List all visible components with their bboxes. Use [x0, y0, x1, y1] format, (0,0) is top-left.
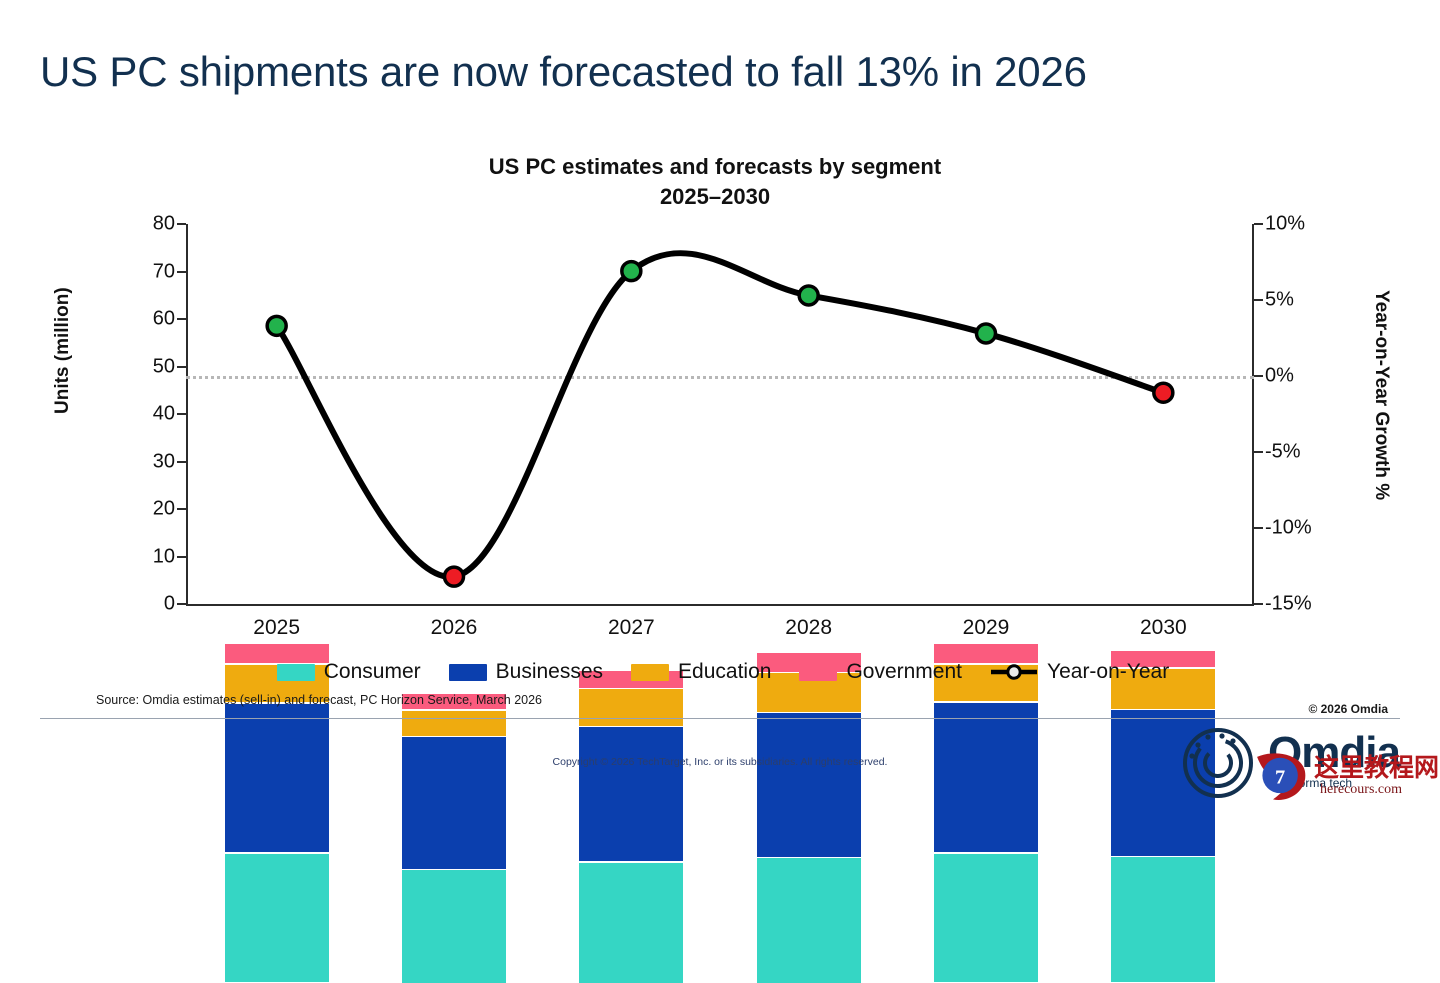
year-on-year-data-point[interactable]	[267, 316, 286, 335]
watermark-subtitle: herecours.com	[1320, 782, 1402, 798]
watermark-badge-icon: 7	[1250, 750, 1312, 808]
legend-item-government[interactable]: Government	[799, 660, 962, 684]
legend-label: Government	[846, 660, 962, 684]
legend-line-marker-icon	[990, 663, 1038, 681]
bar-segment-consumer[interactable]	[225, 854, 329, 983]
watermark-title: 这里教程网	[1314, 748, 1439, 784]
omdia-copyright: © 2026 Omdia	[1308, 702, 1388, 716]
legend-swatch-icon	[631, 664, 669, 681]
year-on-year-data-point[interactable]	[977, 324, 996, 343]
legend-label: Year-on-Year	[1047, 660, 1169, 684]
chart-legend: ConsumerBusinessesEducationGovernmentYea…	[188, 660, 1258, 684]
legend-item-year-on-year[interactable]: Year-on-Year	[990, 660, 1169, 684]
legend-item-businesses[interactable]: Businesses	[449, 660, 603, 684]
site-watermark: 7 这里教程网 herecours.com	[1250, 748, 1430, 810]
legend-label: Education	[678, 660, 771, 684]
year-on-year-data-point[interactable]	[445, 567, 464, 586]
year-on-year-data-point[interactable]	[1154, 383, 1173, 402]
year-on-year-data-point[interactable]	[622, 262, 641, 281]
year-on-year-line	[277, 253, 1164, 577]
legend-label: Consumer	[324, 660, 421, 684]
bar-segment-consumer[interactable]	[579, 863, 683, 983]
omdia-logomark-icon	[1182, 728, 1260, 798]
legend-item-education[interactable]: Education	[631, 660, 771, 684]
svg-text:7: 7	[1275, 766, 1285, 788]
footer-divider	[40, 718, 1400, 719]
year-on-year-data-point[interactable]	[799, 286, 818, 305]
year-on-year-line-overlay	[0, 0, 1440, 810]
legend-swatch-icon	[799, 664, 837, 681]
source-note: Source: Omdia estimates (sell-in) and fo…	[96, 693, 542, 707]
legend-label: Businesses	[496, 660, 603, 684]
bar-segment-consumer[interactable]	[1111, 857, 1215, 982]
legend-item-consumer[interactable]: Consumer	[277, 660, 421, 684]
bar-segment-consumer[interactable]	[402, 870, 506, 983]
legend-swatch-icon	[449, 664, 487, 681]
legend-swatch-icon	[277, 664, 315, 681]
bar-segment-consumer[interactable]	[757, 858, 861, 982]
bar-segment-consumer[interactable]	[934, 854, 1038, 983]
